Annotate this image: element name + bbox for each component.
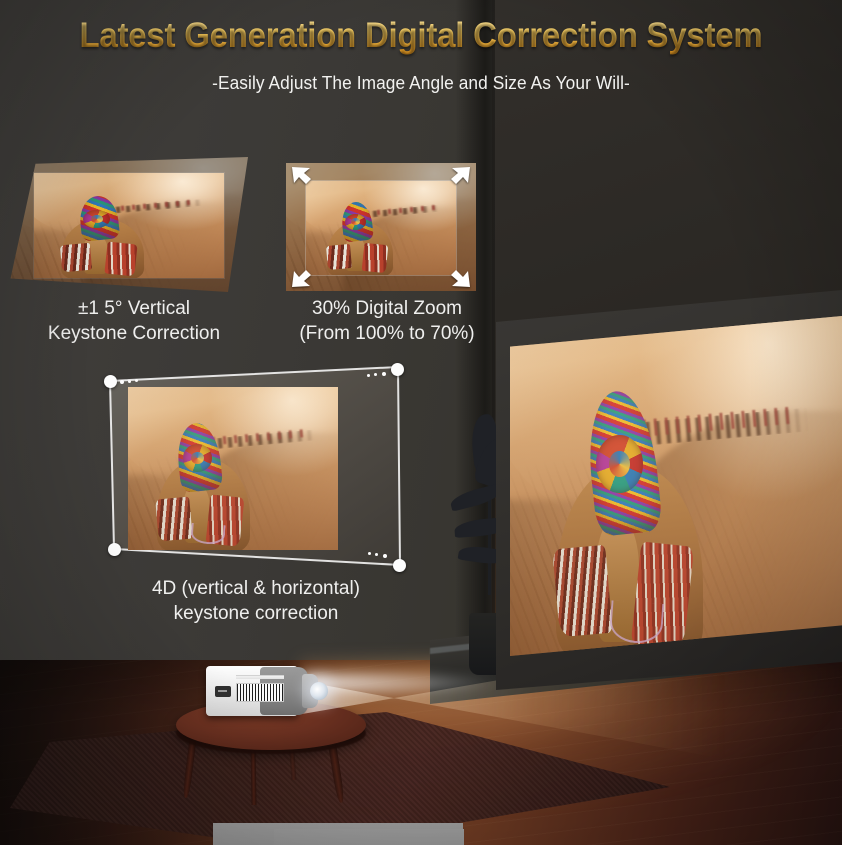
warm-light-overlay [128, 387, 338, 550]
keystone-handle-bottom-right[interactable] [393, 559, 406, 572]
feature-thumb-4d-keystone [98, 363, 410, 575]
table-leg [250, 745, 256, 805]
projector-lens [310, 682, 328, 700]
desert-photo [306, 181, 456, 275]
handle-trail-dot [368, 552, 371, 555]
caption-line: 4D (vertical & horizontal) [92, 576, 420, 601]
camel-saddle-blanket [105, 242, 139, 277]
page-subtitle: -Easily Adjust The Image Angle and Size … [17, 73, 825, 94]
caption-4d-keystone: 4D (vertical & horizontal) keystone corr… [92, 576, 420, 626]
plant-leaf [449, 483, 503, 511]
camel-saddle-blanket [326, 244, 352, 270]
desert-photo [128, 387, 338, 550]
warm-light-overlay [510, 316, 842, 656]
desert-photo [510, 316, 842, 656]
caption-line: keystone correction [92, 601, 420, 626]
projector-top-vent [236, 675, 284, 679]
zoom-target-region [306, 181, 456, 275]
keystone-handle-top-right[interactable] [391, 363, 404, 376]
caption-digital-zoom: 30% Digital Zoom (From 100% to 70%) [276, 296, 498, 346]
caption-line: ±1 5° Vertical [0, 296, 268, 321]
projector-vent-grille [236, 683, 284, 702]
feature-thumb-vertical-keystone [8, 157, 258, 292]
keystone-handle-bottom-left[interactable] [108, 543, 121, 556]
page-title: Latest Generation Digital Correction Sys… [25, 16, 816, 56]
caption-line: Keystone Correction [0, 321, 268, 346]
projector-status-display [215, 686, 231, 697]
projector-foot [274, 829, 464, 845]
keystone-handle-top-left[interactable] [104, 375, 117, 388]
handle-trail-dot [135, 379, 138, 382]
handle-trail-dot [128, 380, 131, 383]
handle-trail-dot [375, 553, 378, 556]
feature-thumb-digital-zoom [286, 163, 476, 291]
handle-trail-dot [374, 373, 377, 376]
handle-trail-dot [383, 554, 387, 558]
product-feature-graphic: ±1 5° Vertical Keystone Correction [0, 0, 842, 845]
desert-photo [34, 173, 224, 278]
projected-image [510, 316, 842, 656]
handle-trail-dot [120, 380, 124, 384]
handle-trail-dot [367, 374, 370, 377]
handle-trail-dot [382, 372, 386, 376]
keystone-corrected-image [128, 387, 338, 550]
caption-vertical-keystone: ±1 5° Vertical Keystone Correction [0, 296, 268, 346]
camel-saddle-blanket [362, 243, 389, 274]
rider-headwrap-swirl [345, 214, 366, 230]
caption-line: (From 100% to 70%) [276, 321, 498, 346]
rider-headwrap-swirl [83, 210, 110, 228]
projection-screen [496, 290, 842, 690]
keystone-corrected-image [34, 173, 224, 278]
projector-device [206, 666, 318, 716]
caption-line: 30% Digital Zoom [276, 296, 498, 321]
camel-saddle-blanket [59, 243, 92, 273]
